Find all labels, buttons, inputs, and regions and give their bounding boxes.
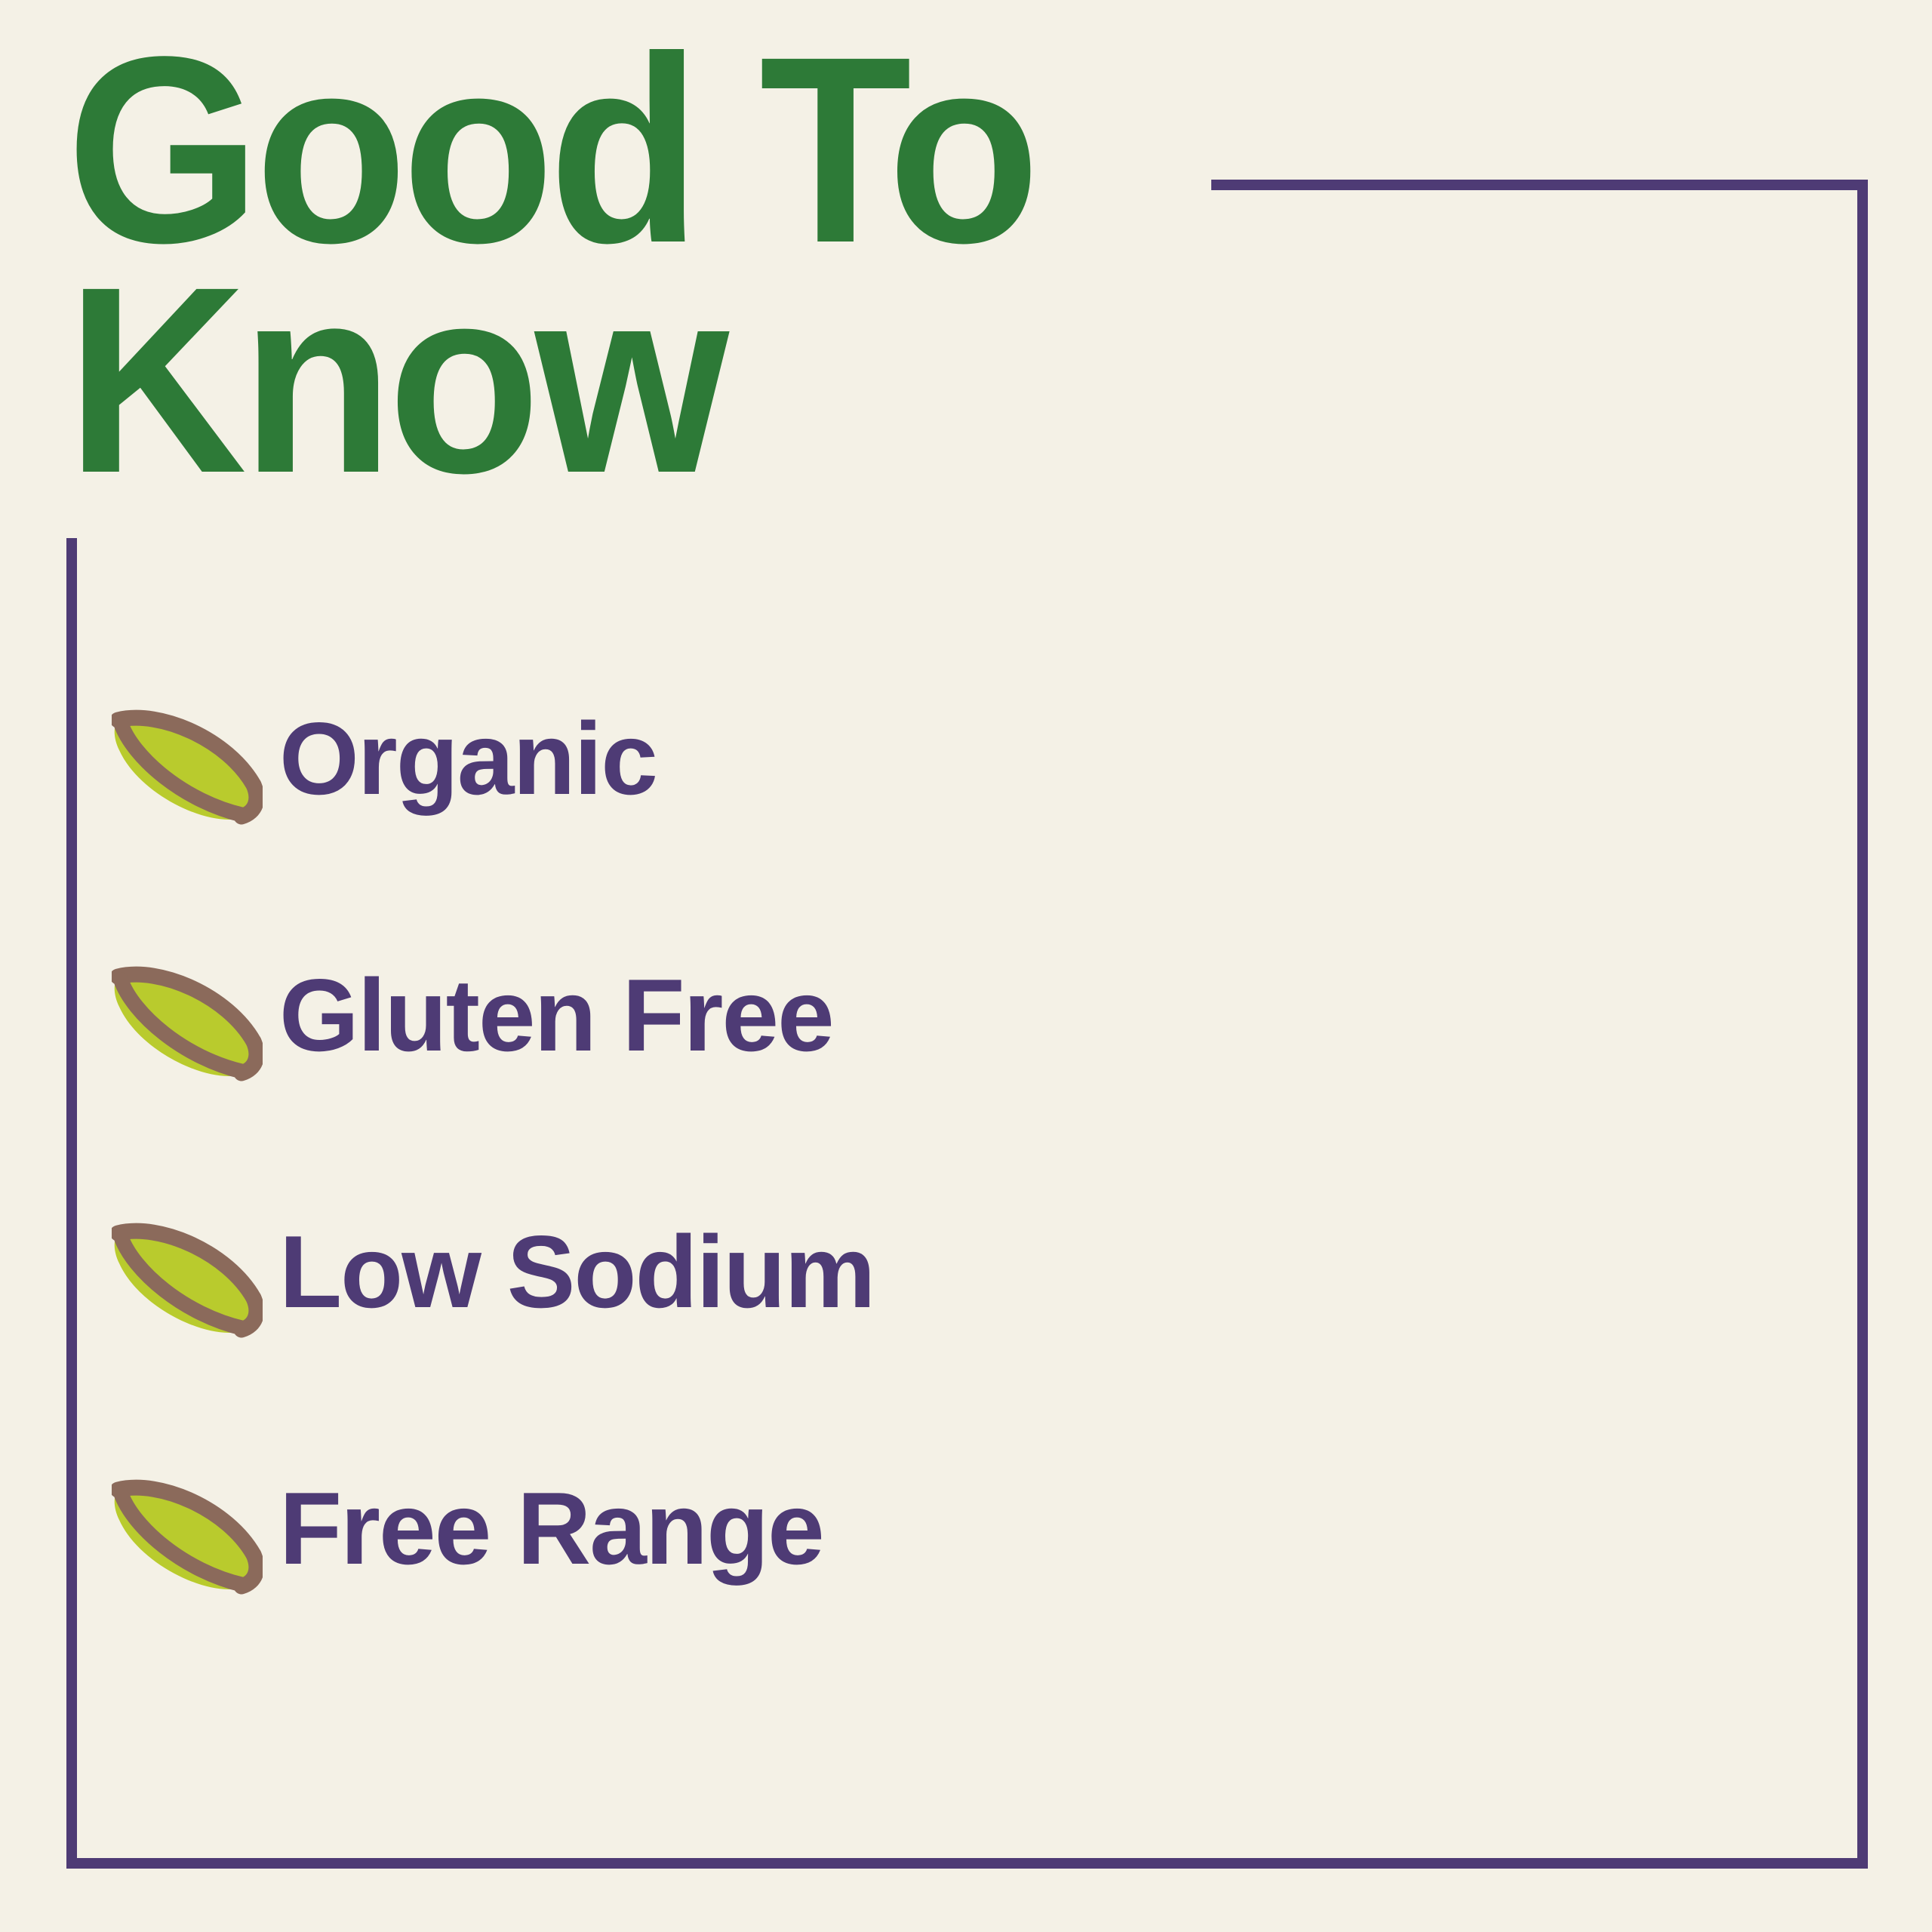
frame-right-rule [1857, 180, 1868, 1869]
list-item: Gluten Free [112, 958, 1697, 1215]
good-to-know-card: Good To Know Organic Gluten Free [0, 0, 1932, 1932]
leaf-icon [112, 1478, 263, 1597]
frame-bottom-rule [66, 1858, 1868, 1869]
frame-top-rule [1211, 180, 1868, 190]
page-title-line-2: Know [66, 265, 1131, 495]
frame-left-rule [66, 538, 77, 1869]
list-item: Free Range [112, 1472, 1697, 1728]
page-title: Good To Know [66, 35, 1198, 495]
list-item-label: Gluten Free [279, 958, 833, 1072]
leaf-icon [112, 964, 263, 1084]
feature-list: Organic Gluten Free Low Sodium [112, 702, 1697, 1728]
list-item: Organic [112, 702, 1697, 958]
list-item-label: Free Range [279, 1472, 823, 1585]
leaf-icon [112, 708, 263, 827]
leaf-icon [112, 1221, 263, 1340]
list-item-label: Low Sodium [279, 1215, 874, 1328]
list-item-label: Organic [279, 702, 657, 815]
list-item: Low Sodium [112, 1215, 1697, 1472]
